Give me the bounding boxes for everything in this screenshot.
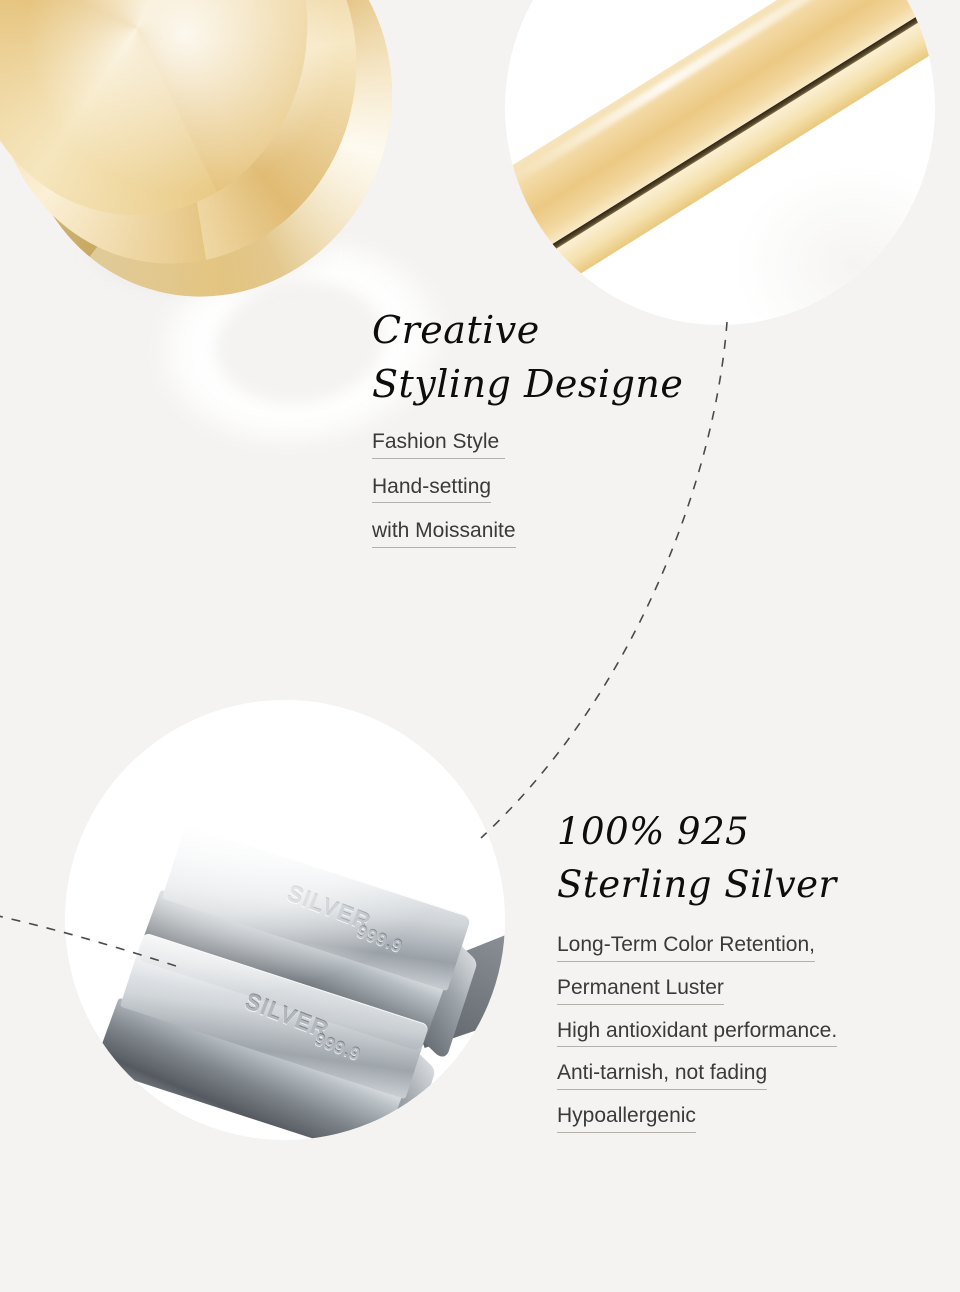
circle-soft-edge <box>735 165 935 325</box>
gold-ring-image <box>0 0 430 310</box>
marketing-banner: SILVER 999.9 SILVER 999.9 Creative Styli… <box>0 0 960 1292</box>
section-heading: Creative Styling Designe <box>372 304 683 412</box>
ring-pave-band <box>0 0 320 226</box>
heading-line: Creative <box>372 304 683 358</box>
feature-item: with Moissanite <box>372 519 516 548</box>
creative-styling-text-block: Creative Styling Designe Fashion Style H… <box>372 304 683 564</box>
feature-item: Hypoallergenic <box>557 1104 696 1133</box>
feature-list: Fashion Style Hand-setting with Moissani… <box>372 430 683 548</box>
feature-item: Permanent Luster <box>557 976 724 1005</box>
section-heading: 100% 925 Sterling Silver <box>557 806 837 911</box>
sterling-silver-text-block: 100% 925 Sterling Silver Long-Term Color… <box>557 806 837 1147</box>
feature-item: Anti-tarnish, not fading <box>557 1061 767 1090</box>
heading-line: Styling Designe <box>372 358 683 412</box>
heading-line: Sterling Silver <box>557 859 837 912</box>
heading-line: 100% 925 <box>557 806 837 859</box>
feature-item: Fashion Style <box>372 430 505 459</box>
feature-item: Hand-setting <box>372 475 491 504</box>
feature-item: High antioxidant performance. <box>557 1019 837 1048</box>
feature-list: Long-Term Color Retention, Permanent Lus… <box>557 933 837 1133</box>
feature-item: Long-Term Color Retention, <box>557 933 815 962</box>
gold-band-closeup-image <box>505 0 935 325</box>
pave-stone-row <box>0 0 308 215</box>
silver-bars-image: SILVER 999.9 SILVER 999.9 <box>65 700 505 1140</box>
